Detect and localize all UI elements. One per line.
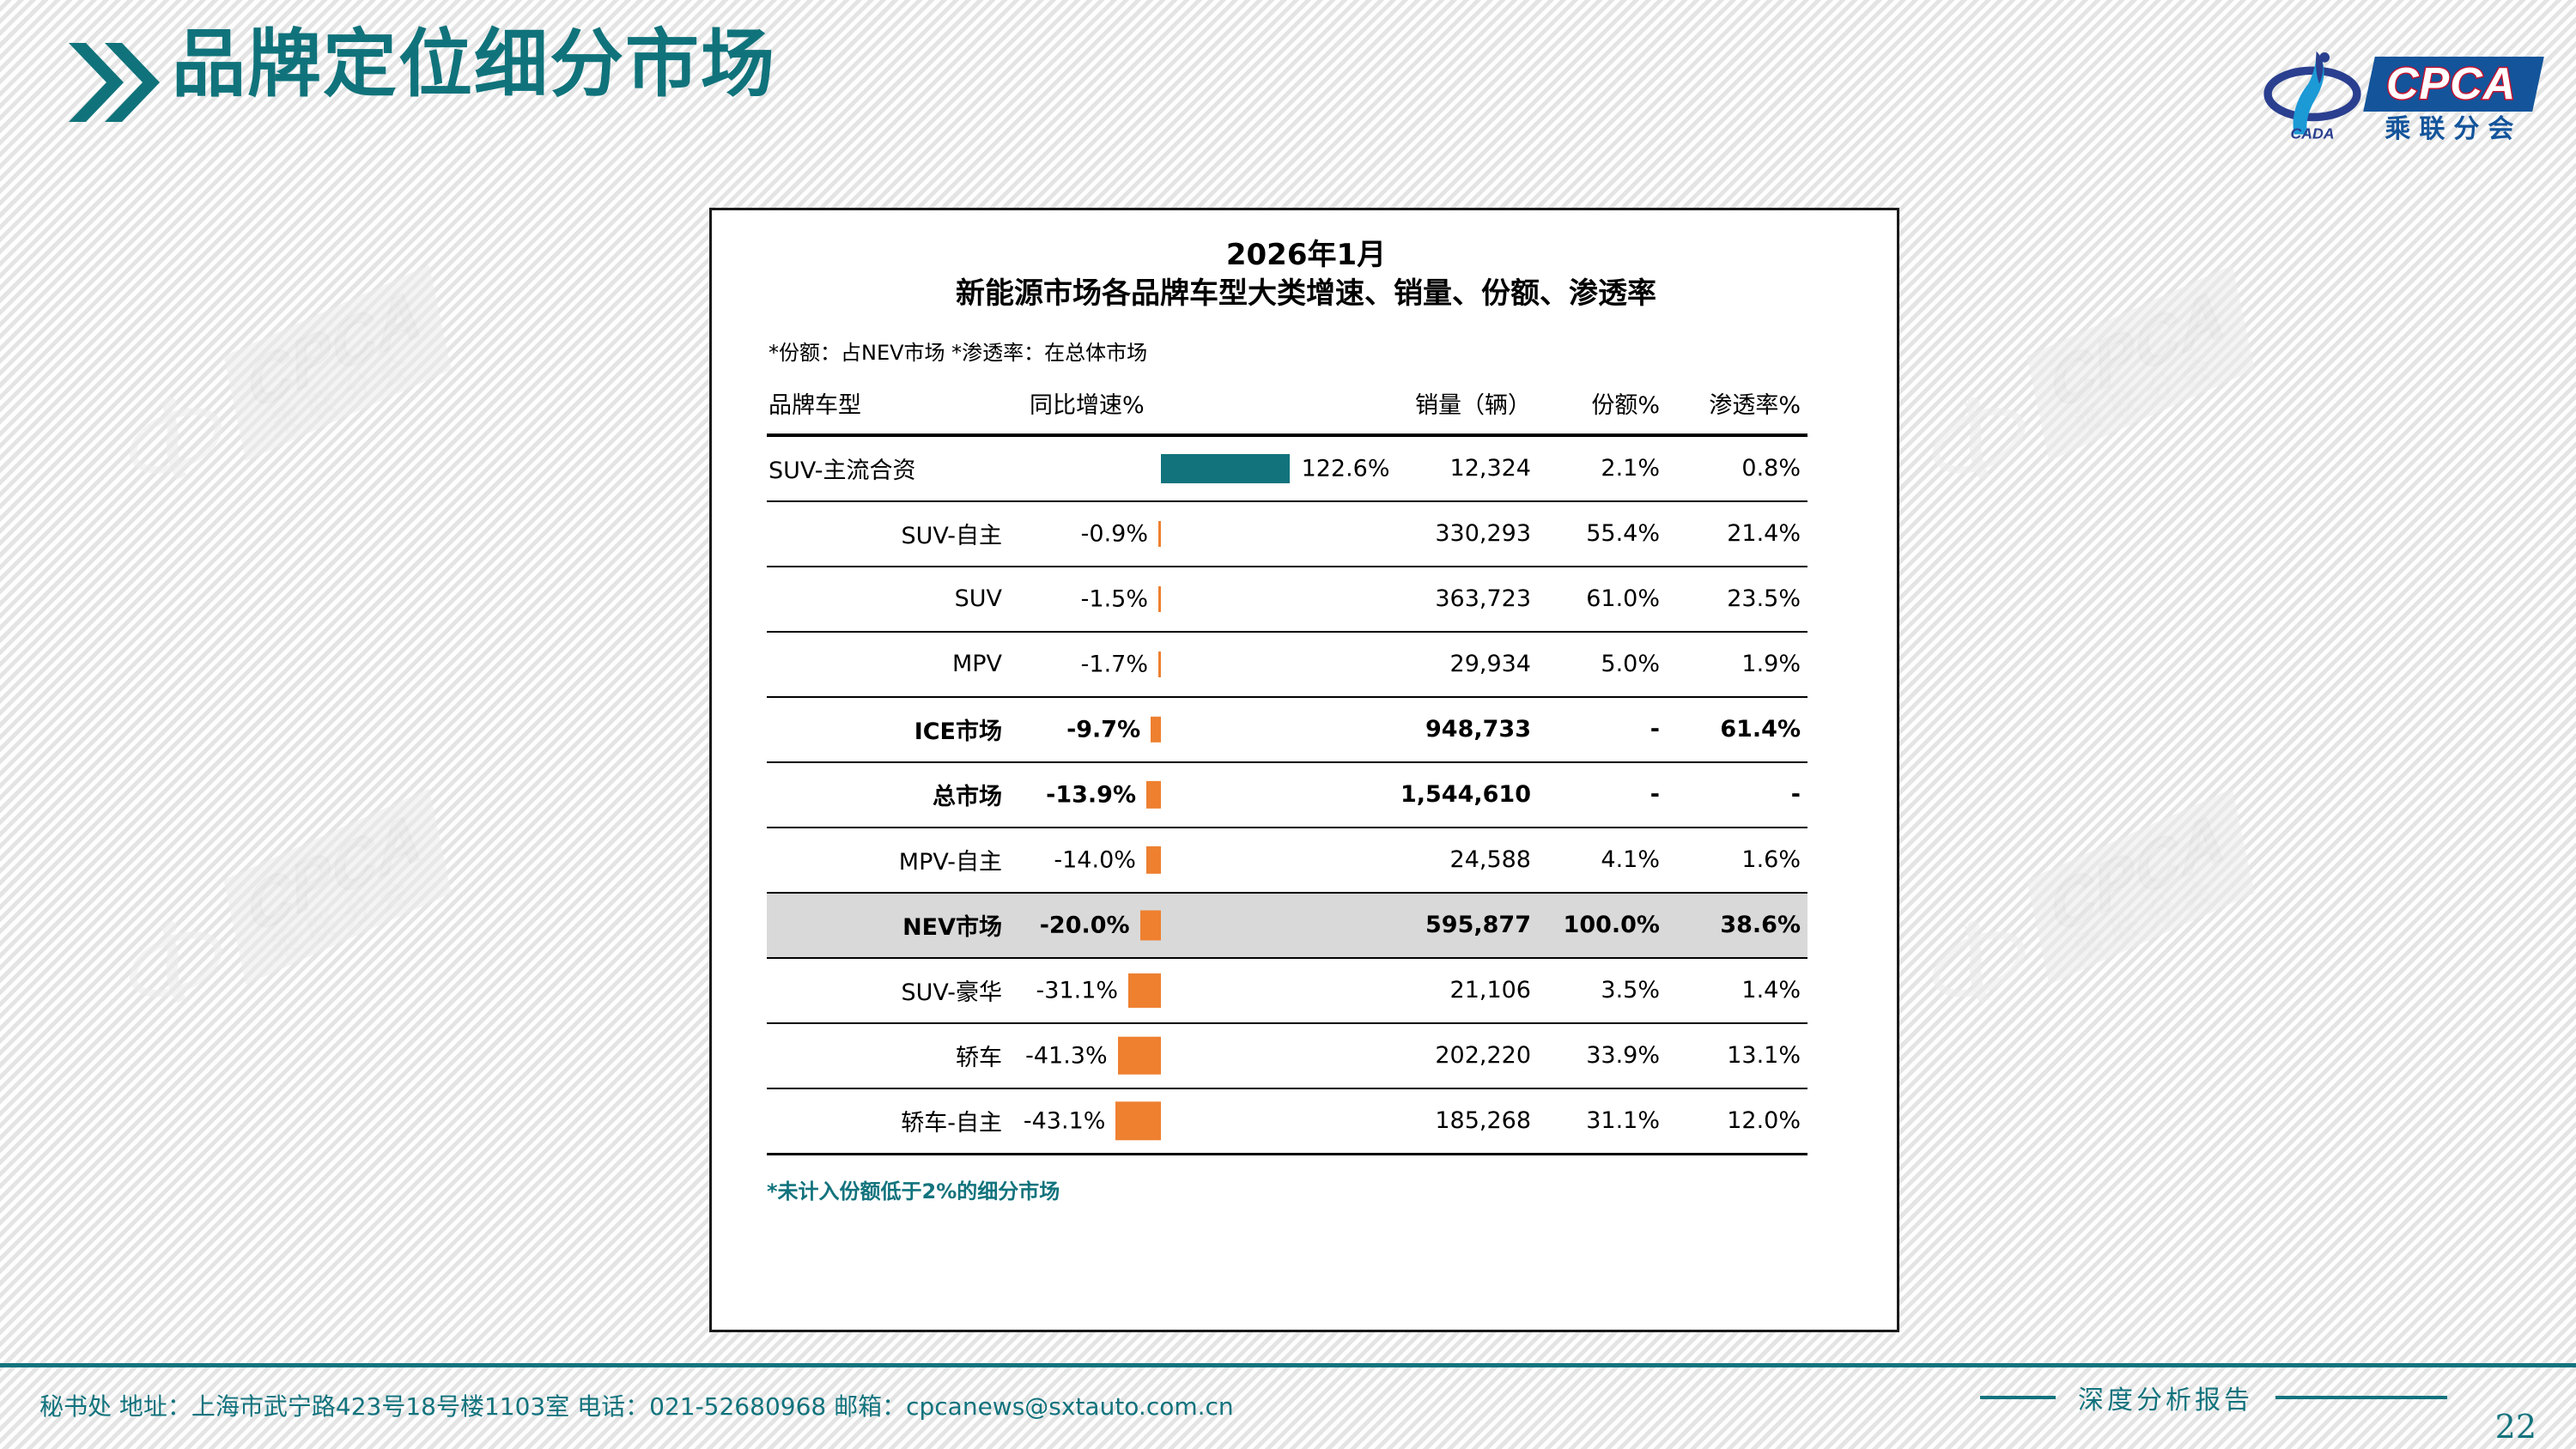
column-header-name: 品牌车型 xyxy=(767,383,1016,435)
growth-bar-track: -13.9% xyxy=(1016,763,1376,827)
cell-growth: -13.9% xyxy=(1016,762,1376,828)
cell-growth: 122.6% xyxy=(1016,435,1376,501)
watermark-band: CPCA 乘联分会 xyxy=(2026,789,2254,985)
watermark-cn-text: 乘联分会 xyxy=(2059,342,2237,450)
chart-card: 2026年1月 新能源市场各品牌车型大类增速、销量、份额、渗透率 *份额：占NE… xyxy=(709,208,1899,1332)
slide-header: 品牌定位细分市场 CADA CPCA 乘联分会 xyxy=(0,0,2576,163)
footer-badge: 深度分析报告 xyxy=(1980,1379,2447,1416)
cell-growth: -20.0% xyxy=(1016,893,1376,958)
growth-label: -31.1% xyxy=(1016,977,1118,1003)
growth-bar-negative xyxy=(1158,652,1161,677)
table-row[interactable]: SUV-豪华-31.1%21,1063.5%1.4% xyxy=(767,958,1807,1023)
cell-penetration: - xyxy=(1667,762,1807,828)
growth-label: -1.5% xyxy=(1016,585,1148,612)
cada-swoosh-icon xyxy=(106,368,241,504)
cpca-text: CPCA xyxy=(2386,62,2516,106)
cell-growth: -0.9% xyxy=(1016,501,1376,567)
growth-bar-track: -9.7% xyxy=(1016,698,1376,761)
growth-label: -41.3% xyxy=(1016,1042,1108,1069)
data-table: 品牌车型 同比增速% 销量（辆） 份额% 渗透率% SUV-主流合资122.6%… xyxy=(767,383,1807,1155)
cpca-cn-text: 乘联分会 xyxy=(2369,117,2538,142)
cell-penetration: 1.6% xyxy=(1667,828,1807,893)
chart-title-line2: 新能源市场各品牌车型大类增速、销量、份额、渗透率 xyxy=(760,275,1852,313)
cell-penetration: 12.0% xyxy=(1667,1088,1807,1155)
slide-canvas: CPCA 乘联分会 CPCA 乘联分会 CPCA 乘联分会 xyxy=(0,0,2576,1449)
cell-sales: 185,268 xyxy=(1376,1088,1538,1155)
cell-share: - xyxy=(1538,762,1667,828)
column-header-sales: 销量（辆） xyxy=(1376,383,1538,435)
watermark: CPCA 乘联分会 xyxy=(106,793,462,1028)
table-body: SUV-主流合资122.6%12,3242.1%0.8%SUV-自主-0.9%3… xyxy=(767,435,1807,1155)
cell-penetration: 61.4% xyxy=(1667,697,1807,762)
cell-share: 31.1% xyxy=(1538,1088,1667,1155)
growth-bar-positive xyxy=(1161,454,1290,483)
growth-bar-track: -1.7% xyxy=(1016,633,1376,696)
growth-bar-track: 122.6% xyxy=(1016,437,1376,500)
column-header-penetration: 渗透率% xyxy=(1667,383,1807,435)
cada-swoosh-icon xyxy=(1909,368,2044,504)
growth-label: 122.6% xyxy=(1302,455,1390,482)
watermark-cpca-text: CPCA xyxy=(2046,805,2230,942)
cada-swoosh-icon: CADA xyxy=(2261,41,2364,142)
cell-share: 33.9% xyxy=(1538,1023,1667,1088)
watermark-band: CPCA 乘联分会 xyxy=(223,265,451,461)
cell-share: 4.1% xyxy=(1538,828,1667,893)
cell-category: 轿车-自主 xyxy=(767,1088,1016,1155)
watermark: CPCA 乘联分会 xyxy=(106,270,462,505)
growth-label: -9.7% xyxy=(1016,716,1140,743)
cell-growth: -1.5% xyxy=(1016,567,1376,632)
chart-footnote: *未计入份额低于2%的细分市场 xyxy=(760,1174,1852,1204)
cell-penetration: 23.5% xyxy=(1667,567,1807,632)
table-row[interactable]: SUV-自主-0.9%330,29355.4%21.4% xyxy=(767,501,1807,567)
cell-sales: 202,220 xyxy=(1376,1023,1538,1088)
cell-sales: 363,723 xyxy=(1376,567,1538,632)
growth-bar-negative xyxy=(1128,973,1161,1008)
chart-title-line1: 2026年1月 xyxy=(760,236,1852,275)
growth-label: -13.9% xyxy=(1016,781,1136,808)
cpca-wordmark: CPCA 乘联分会 xyxy=(2369,57,2538,142)
growth-bar-track: -43.1% xyxy=(1016,1089,1376,1153)
cell-category: 轿车 xyxy=(767,1023,1016,1088)
cell-category: ICE市场 xyxy=(767,697,1016,762)
badge-text: 深度分析报告 xyxy=(2078,1379,2253,1416)
cell-category: MPV-自主 xyxy=(767,828,1016,893)
footer-contact: 秘书处 地址：上海市武宁路423号18号楼1103室 电话：021-526809… xyxy=(39,1388,1234,1422)
growth-bar-track: -14.0% xyxy=(1016,828,1376,892)
cell-growth: -41.3% xyxy=(1016,1023,1376,1088)
watermark-cpca-text: CPCA xyxy=(243,282,427,418)
table-row[interactable]: SUV-主流合资122.6%12,3242.1%0.8% xyxy=(767,435,1807,501)
growth-label: -1.7% xyxy=(1016,651,1148,677)
cell-penetration: 21.4% xyxy=(1667,501,1807,567)
badge-line-left xyxy=(1980,1396,2056,1399)
cell-sales: 24,588 xyxy=(1376,828,1538,893)
cell-share: 5.0% xyxy=(1538,632,1667,697)
table-row[interactable]: 轿车-自主-43.1%185,26831.1%12.0% xyxy=(767,1088,1807,1155)
growth-bar-negative xyxy=(1158,521,1161,547)
table-row[interactable]: NEV市场-20.0%595,877100.0%38.6% xyxy=(767,893,1807,958)
watermark-cn-text: 乘联分会 xyxy=(256,342,434,450)
growth-bar-track: -1.5% xyxy=(1016,567,1376,631)
cell-category: SUV-自主 xyxy=(767,501,1016,567)
table-row[interactable]: SUV-1.5%363,72361.0%23.5% xyxy=(767,567,1807,632)
cell-penetration: 1.9% xyxy=(1667,632,1807,697)
column-header-growth: 同比增速% xyxy=(1016,383,1376,435)
growth-bar-negative xyxy=(1146,846,1161,874)
watermark-band: CPCA 乘联分会 xyxy=(2026,265,2254,461)
page-number: 22 xyxy=(2495,1408,2537,1446)
cell-penetration: 1.4% xyxy=(1667,958,1807,1023)
cell-growth: -31.1% xyxy=(1016,958,1376,1023)
cell-category: MPV xyxy=(767,632,1016,697)
growth-bar-negative xyxy=(1118,1036,1161,1075)
cell-share: 61.0% xyxy=(1538,567,1667,632)
cada-swoosh-icon xyxy=(106,892,241,1028)
cell-sales: 1,544,610 xyxy=(1376,762,1538,828)
cell-sales: 21,106 xyxy=(1376,958,1538,1023)
watermark-cn-text: 乘联分会 xyxy=(2059,865,2237,973)
double-chevron-right-icon xyxy=(67,41,160,124)
table-row[interactable]: ICE市场-9.7%948,733-61.4% xyxy=(767,697,1807,762)
cell-share: 2.1% xyxy=(1538,435,1667,501)
growth-bar-track: -20.0% xyxy=(1016,894,1376,957)
cell-sales: 948,733 xyxy=(1376,697,1538,762)
cell-category: NEV市场 xyxy=(767,893,1016,958)
cell-share: - xyxy=(1538,697,1667,762)
table-row[interactable]: MPV-1.7%29,9345.0%1.9% xyxy=(767,632,1807,697)
watermark-cn-text: 乘联分会 xyxy=(256,865,434,973)
page-title: 品牌定位细分市场 xyxy=(172,27,776,101)
growth-bar-negative xyxy=(1146,781,1161,809)
chart-title: 2026年1月 新能源市场各品牌车型大类增速、销量、份额、渗透率 xyxy=(760,236,1852,313)
cell-category: SUV-主流合资 xyxy=(767,435,1016,501)
watermark-cpca-text: CPCA xyxy=(243,805,427,942)
cell-share: 55.4% xyxy=(1538,501,1667,567)
chart-note: *份额：占NEV市场 *渗透率：在总体市场 xyxy=(760,336,1852,366)
cell-penetration: 13.1% xyxy=(1667,1023,1807,1088)
growth-bar-negative xyxy=(1151,717,1161,743)
watermark-cpca-text: CPCA xyxy=(2046,282,2230,418)
cell-sales: 330,293 xyxy=(1376,501,1538,567)
growth-bar-negative xyxy=(1158,586,1161,612)
cell-penetration: 0.8% xyxy=(1667,435,1807,501)
table-row[interactable]: 总市场-13.9%1,544,610-- xyxy=(767,762,1807,828)
watermark: CPCA 乘联分会 xyxy=(1909,793,2265,1028)
cell-category: SUV-豪华 xyxy=(767,958,1016,1023)
growth-label: -14.0% xyxy=(1016,846,1136,873)
cell-penetration: 38.6% xyxy=(1667,893,1807,958)
growth-bar-negative xyxy=(1140,910,1161,940)
badge-line-right xyxy=(2275,1396,2447,1399)
growth-label: -20.0% xyxy=(1016,912,1130,938)
cell-share: 100.0% xyxy=(1538,893,1667,958)
cpca-logo: CADA CPCA 乘联分会 xyxy=(2261,41,2538,142)
cell-category: SUV xyxy=(767,567,1016,632)
watermark: CPCA 乘联分会 xyxy=(1909,270,2265,505)
cada-swoosh-icon xyxy=(1909,892,2044,1028)
cell-sales: 595,877 xyxy=(1376,893,1538,958)
table-head: 品牌车型 同比增速% 销量（辆） 份额% 渗透率% xyxy=(767,383,1807,435)
cell-growth: -1.7% xyxy=(1016,632,1376,697)
cell-category: 总市场 xyxy=(767,762,1016,828)
table-header-row: 品牌车型 同比增速% 销量（辆） 份额% 渗透率% xyxy=(767,383,1807,435)
growth-bar-track: -31.1% xyxy=(1016,959,1376,1022)
cell-growth: -9.7% xyxy=(1016,697,1376,762)
column-header-share: 份额% xyxy=(1538,383,1667,435)
cell-sales: 12,324 xyxy=(1376,435,1538,501)
table-row[interactable]: MPV-自主-14.0%24,5884.1%1.6% xyxy=(767,828,1807,893)
cpca-band: CPCA xyxy=(2363,57,2544,112)
cell-sales: 29,934 xyxy=(1376,632,1538,697)
growth-label: -43.1% xyxy=(1016,1107,1105,1134)
svg-text:CADA: CADA xyxy=(2290,124,2334,142)
table-row[interactable]: 轿车-41.3%202,22033.9%13.1% xyxy=(767,1023,1807,1088)
growth-label: -0.9% xyxy=(1016,520,1148,547)
growth-bar-negative xyxy=(1115,1101,1161,1140)
cell-growth: -43.1% xyxy=(1016,1088,1376,1155)
growth-bar-track: -41.3% xyxy=(1016,1024,1376,1088)
watermark-band: CPCA 乘联分会 xyxy=(223,789,451,985)
growth-bar-track: -0.9% xyxy=(1016,502,1376,566)
cell-share: 3.5% xyxy=(1538,958,1667,1023)
cell-growth: -14.0% xyxy=(1016,828,1376,893)
footer-divider xyxy=(0,1363,2576,1367)
